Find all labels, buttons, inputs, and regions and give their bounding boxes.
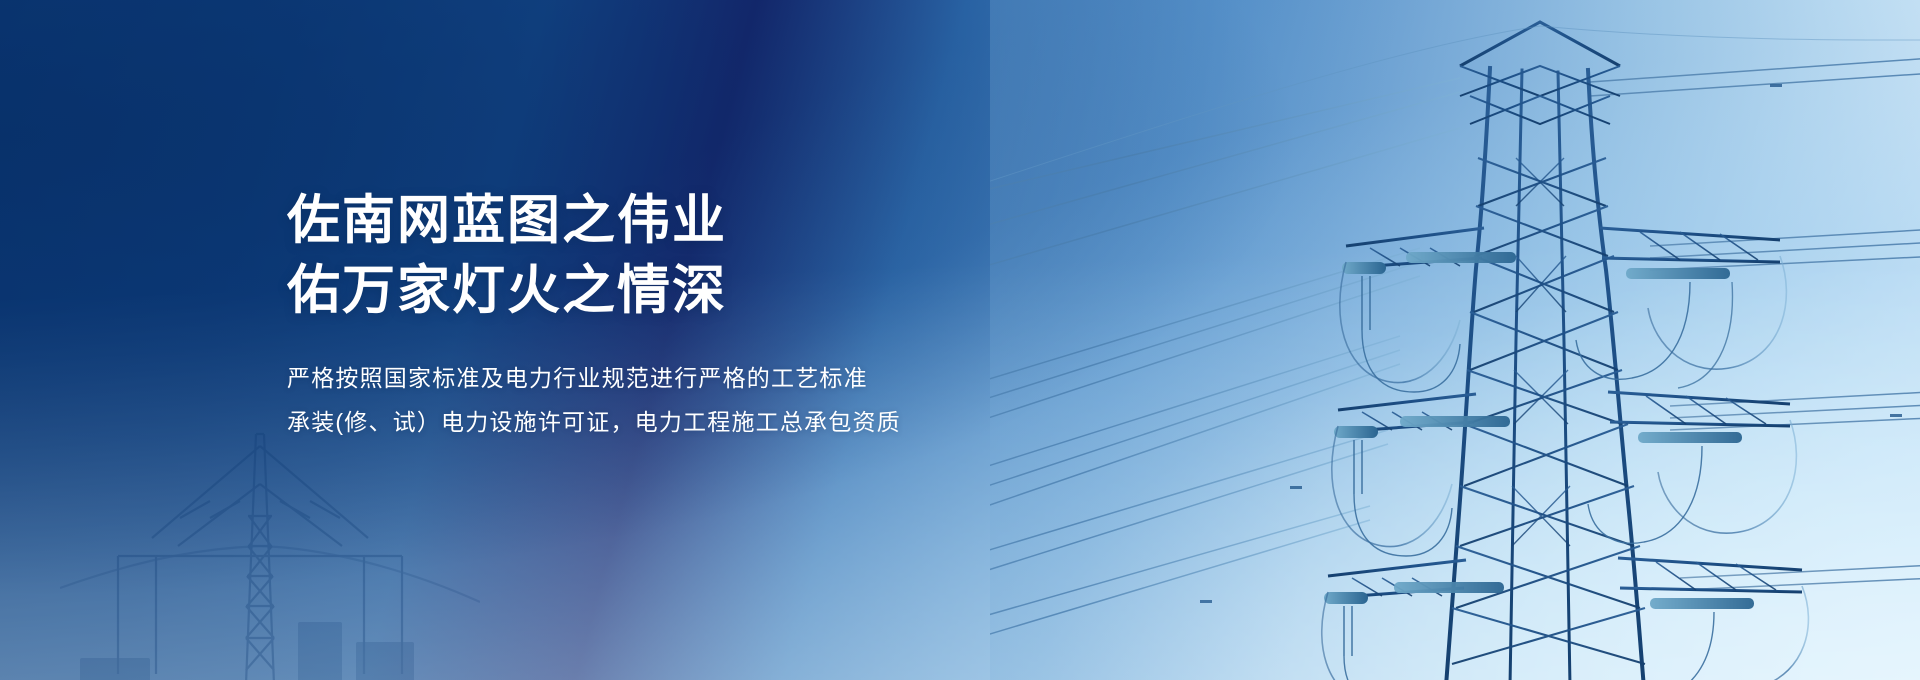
- headline-line-1: 佐南网蓝图之伟业: [287, 191, 727, 250]
- subtitle-line-1: 严格按照国家标准及电力行业规范进行严格的工艺标准: [287, 356, 1047, 400]
- hero-banner: 佐南网蓝图之伟业 佑万家灯火之情深 严格按照国家标准及电力行业规范进行严格的工艺…: [0, 0, 1920, 680]
- subtitle-line-2: 承装(修、试）电力设施许可证，电力工程施工总承包资质: [287, 400, 1047, 444]
- banner-copy: 佐南网蓝图之伟业 佑万家灯火之情深 严格按照国家标准及电力行业规范进行严格的工艺…: [287, 186, 1047, 444]
- banner-subtitle: 严格按照国家标准及电力行业规范进行严格的工艺标准 承装(修、试）电力设施许可证，…: [287, 356, 1047, 444]
- headline-line-2: 佑万家灯火之情深: [287, 256, 1047, 326]
- page-title: 佐南网蓝图之伟业 佑万家灯火之情深: [287, 186, 1047, 326]
